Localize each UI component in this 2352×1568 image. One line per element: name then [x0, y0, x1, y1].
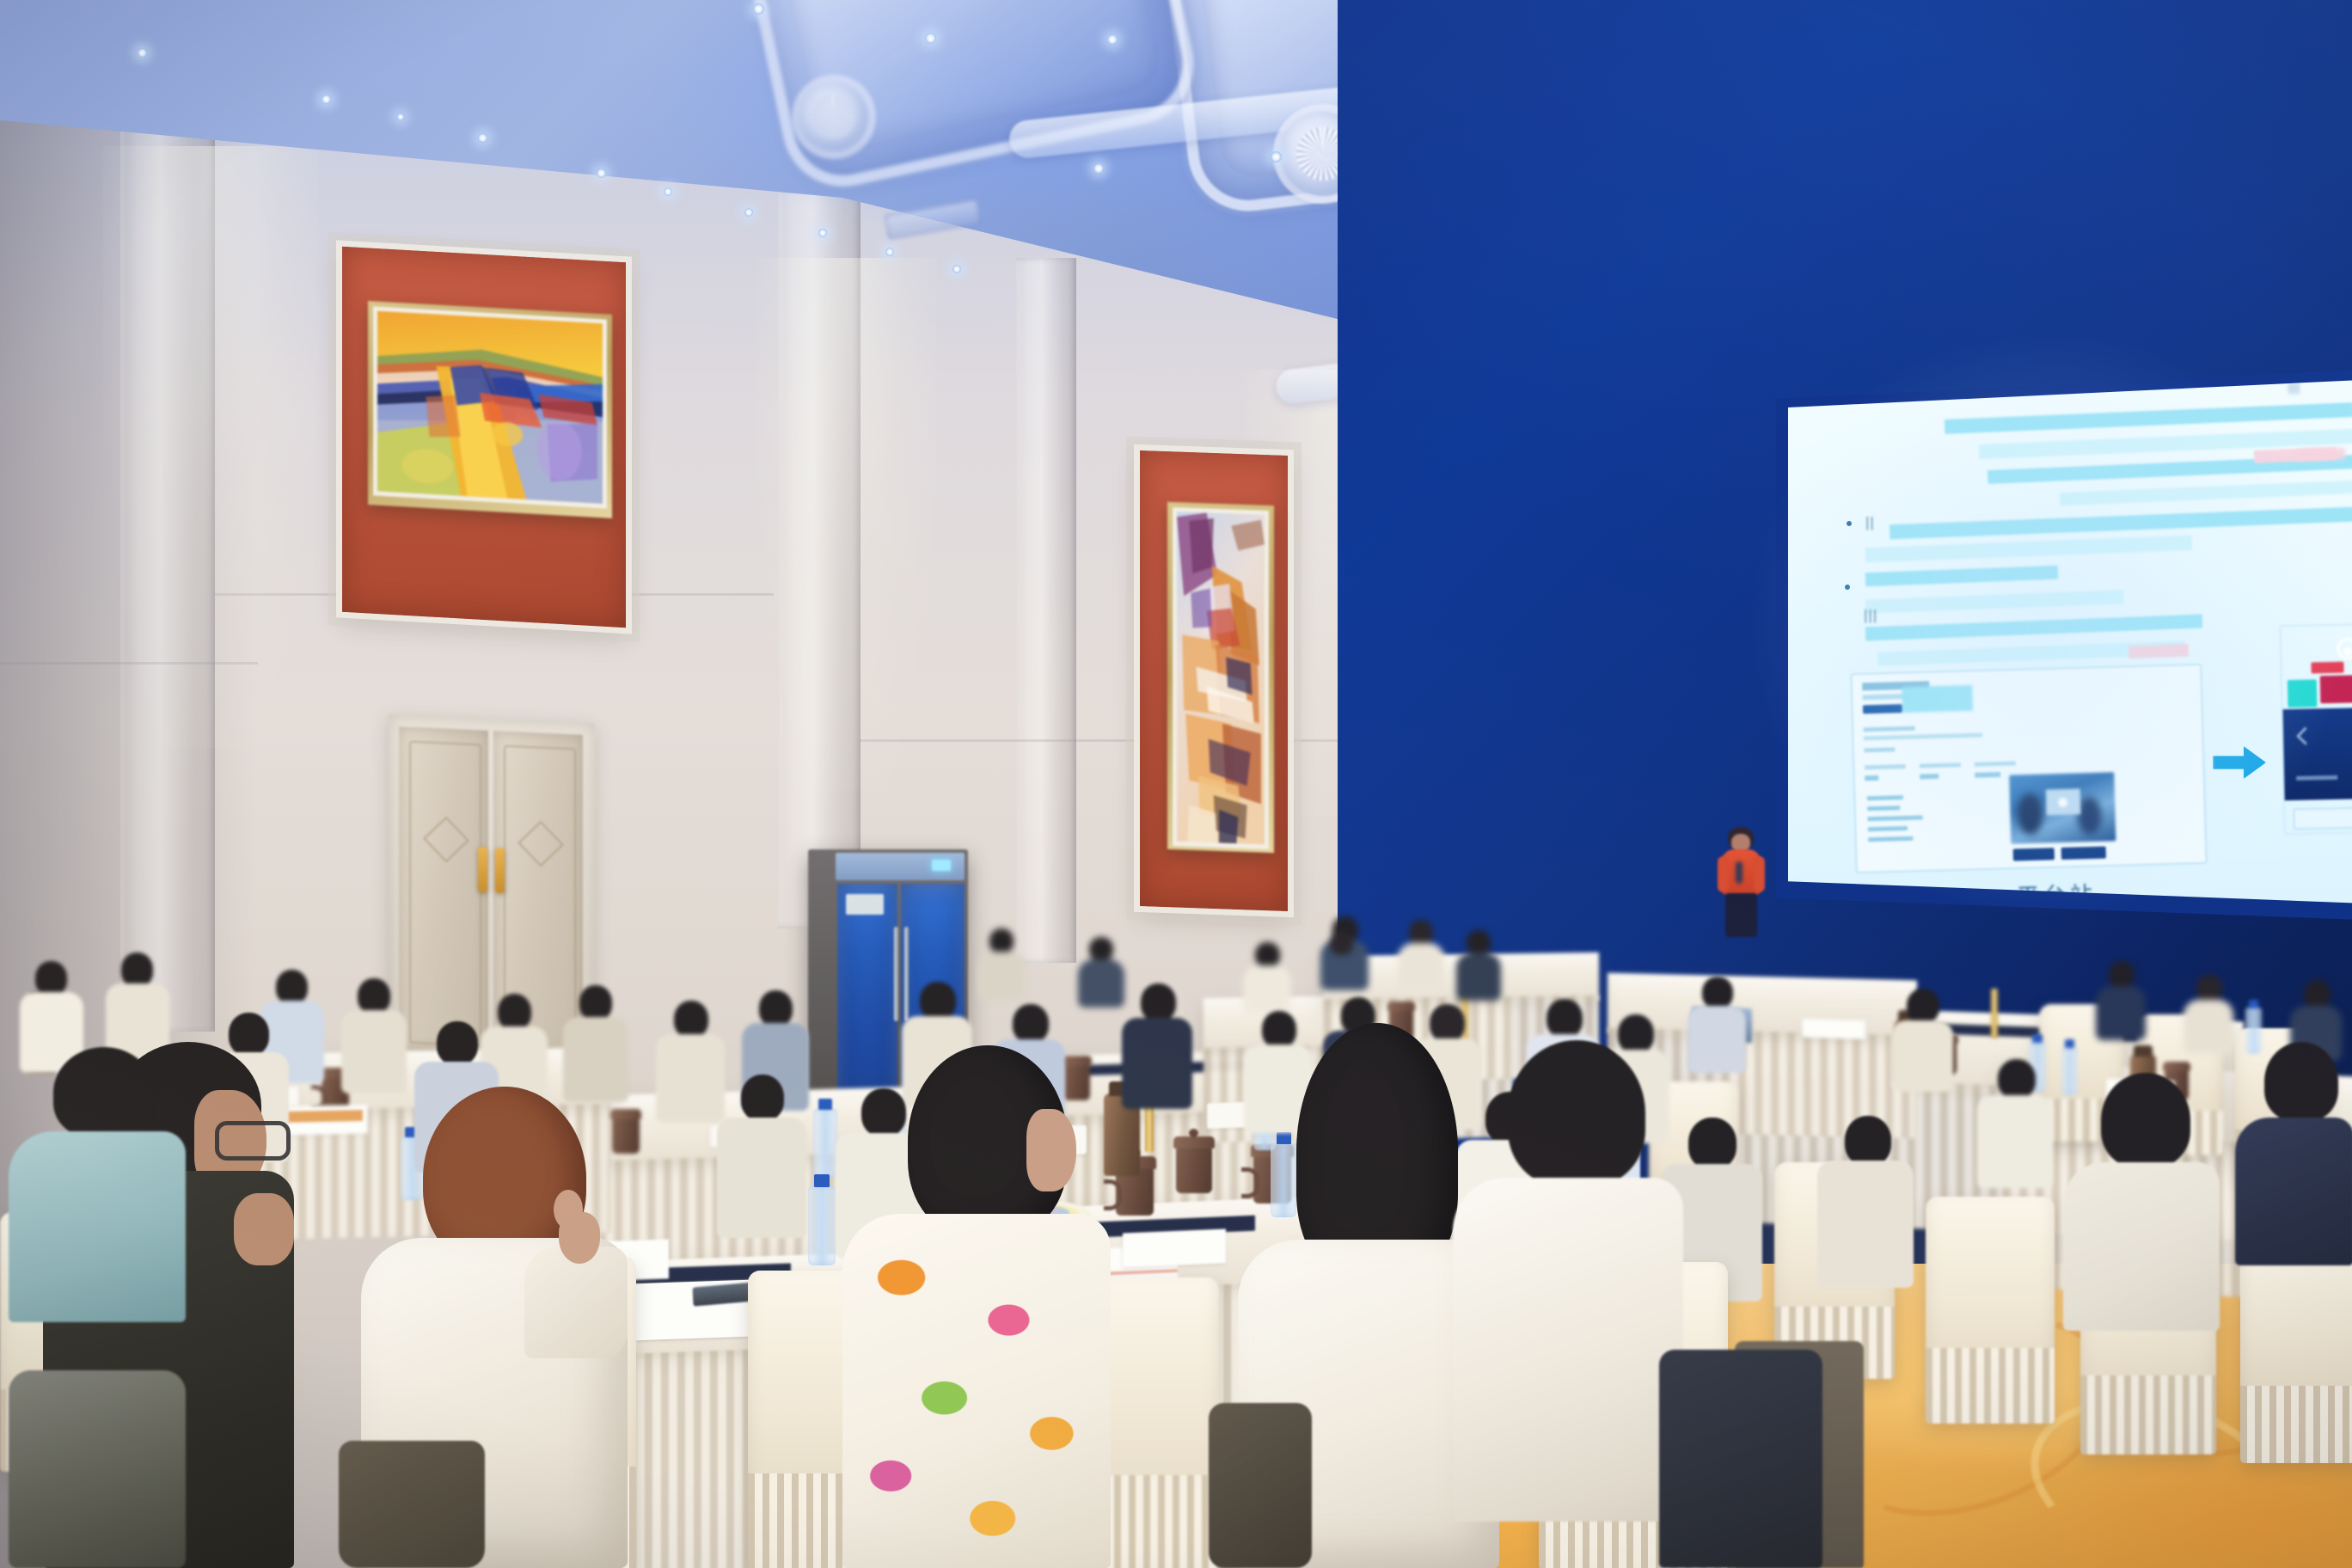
person-body: [1456, 952, 1501, 1001]
eyeglasses: [215, 1121, 291, 1161]
painting-figure: [1167, 502, 1274, 853]
person-head: [1013, 1004, 1049, 1043]
person-body: [2184, 1000, 2233, 1054]
ceiling-downlight: [1093, 163, 1104, 174]
phone-body: [2283, 707, 2352, 800]
audience-member: [1455, 930, 1503, 1001]
person-head: [1255, 942, 1280, 967]
person-bag: [1209, 1403, 1312, 1568]
person-head: [1907, 989, 1939, 1023]
ceiling-downlight: [753, 3, 764, 15]
person-head: [498, 994, 531, 1030]
phone-wifi-icon: [2337, 637, 2352, 660]
slide-card-stat-value: [1865, 775, 1878, 781]
wall-pilaster: [778, 189, 861, 928]
microphone: [1736, 861, 1743, 884]
slide-card-text: [1864, 732, 1982, 740]
slide-body-line: [1865, 536, 2192, 563]
person-head: [759, 990, 793, 1026]
slide-card-button: [2061, 847, 2106, 860]
person-head: [1141, 983, 1176, 1021]
phone-tag-red: [2311, 662, 2343, 674]
person-head: [741, 1075, 784, 1121]
audience-member-foreground: [9, 1047, 189, 1322]
slide-body-line: [1865, 590, 2123, 614]
slide-card-button: [2013, 848, 2055, 861]
slide-corner-redaction: [2297, 448, 2345, 461]
refrigerator-handle[interactable]: [894, 927, 898, 1021]
person-head: [358, 978, 390, 1014]
audience-member: [1396, 920, 1446, 992]
ceiling-downlight: [397, 113, 404, 120]
phone-list-text: [2296, 775, 2337, 781]
person-head: [2109, 961, 2135, 988]
refrigerator-label: [846, 894, 884, 915]
presentation-slide: || |||: [1776, 370, 2352, 920]
audience-member-foreground: [2063, 1073, 2223, 1331]
slide-card-text: [1864, 747, 1895, 752]
document-paper: [1123, 1228, 1226, 1267]
slide-heading-line: [2060, 481, 2352, 505]
person-head: [989, 928, 1014, 953]
person-body: [1453, 1178, 1683, 1522]
ceiling-downlight: [478, 133, 487, 143]
person-body: [1891, 1020, 1953, 1092]
ceiling-downlight: [597, 168, 606, 178]
wall-seam: [0, 662, 258, 665]
teacup-lid: [2163, 1062, 2190, 1071]
person-head: [1467, 930, 1491, 954]
painting-landscape: [368, 301, 612, 518]
painting-figure-canvas: [1177, 511, 1265, 844]
bottle-cap: [2249, 1000, 2258, 1008]
person-body: [9, 1131, 186, 1322]
painting-landscape-canvas: [377, 311, 603, 504]
person-body: [1078, 959, 1124, 1008]
person-body: [1817, 1161, 1914, 1288]
person-body: [842, 1214, 1111, 1568]
person-head: [437, 1021, 478, 1065]
person-head: [1089, 937, 1113, 961]
ceiling-downlight: [885, 248, 894, 256]
slide-card-stat: [1975, 761, 2016, 766]
slide-card-list-item: [1868, 826, 1908, 831]
person-hair: [1508, 1040, 1645, 1186]
ceiling-downlight: [138, 48, 147, 58]
person-body: [1977, 1095, 2053, 1188]
presenter-skirt: [1725, 893, 1757, 937]
ceiling-downlight: [1271, 151, 1282, 162]
person-head: [1409, 920, 1433, 945]
person-body: [978, 952, 1025, 1001]
presenter-arm: [1718, 856, 1729, 892]
chair-skirt: [2240, 1386, 2352, 1463]
person-body: [2235, 1118, 2352, 1265]
slide-card-stat: [1865, 764, 1906, 769]
chair-skirt: [2080, 1375, 2216, 1455]
person-hair: [53, 1047, 155, 1138]
presenter: [1709, 827, 1771, 937]
audience-member-foreground: [842, 1045, 1126, 1568]
person-hand: [559, 1212, 600, 1264]
banquet-chair: [1926, 1197, 2055, 1422]
person-head: [1702, 977, 1733, 1008]
audience-member: [1241, 942, 1293, 1014]
presenter-arm: [1754, 856, 1765, 892]
person-head: [920, 982, 956, 1020]
person-body: [2063, 1162, 2220, 1331]
slide-heading-line: [1945, 402, 2352, 434]
backpack: [9, 1370, 186, 1568]
bottle-cap: [814, 1174, 830, 1187]
refrigerator-display: [932, 860, 951, 871]
person-head: [1330, 932, 1353, 955]
person-head: [35, 961, 67, 995]
audience-member-foreground: [1453, 1040, 1694, 1522]
person-head: [276, 970, 308, 1004]
person-body: [1243, 965, 1291, 1014]
person-head: [1688, 1118, 1736, 1169]
person-head: [579, 985, 612, 1020]
teacup-lid: [1173, 1136, 1215, 1148]
ceiling-downlight: [952, 265, 961, 273]
wall-pilaster: [120, 86, 215, 1032]
person-body: [1398, 943, 1444, 992]
teacup-knob: [1189, 1129, 1198, 1137]
audience-member: [1319, 932, 1365, 999]
audience-member: [560, 985, 631, 1102]
slide-screenshot-card: [1851, 664, 2207, 873]
slide-card-list-item: [1868, 836, 1913, 842]
slide-body-line: [1890, 507, 2352, 540]
person-body: [717, 1118, 806, 1238]
person-body: [1687, 1006, 1746, 1073]
slide-section-label: |||: [1864, 607, 1877, 624]
slide-card-list-item: [1867, 815, 1922, 821]
slide-card-text: [1864, 726, 1915, 732]
slide-card-photo: [2009, 772, 2116, 843]
person-head: [2304, 980, 2331, 1008]
person-head: [1547, 999, 1583, 1038]
slide-caption-cjk: 平台站: [2017, 878, 2098, 912]
handbag: [339, 1441, 485, 1568]
slide-card-stat-value: [1975, 772, 2000, 778]
slide-card-badge: [1863, 704, 1902, 714]
ceiling-downlight: [1107, 34, 1118, 45]
audience-member: [1888, 989, 1957, 1092]
person-head: [1998, 1059, 2036, 1099]
document-paper: [1802, 1019, 1865, 1040]
slide-card-list-item: [1867, 805, 1900, 811]
projection-screen: || |||: [1776, 370, 2352, 920]
conference-hall-photo: EXIT: [0, 0, 2352, 1568]
ceiling-rosette: [799, 83, 868, 151]
audience-member: [1685, 977, 1749, 1073]
gold-table-stand: [1991, 989, 1998, 1038]
slide-card-stat-value: [1920, 774, 1939, 780]
slide-corner-glyph: |||: [2288, 380, 2300, 394]
slide-body-highlight: [2128, 644, 2190, 659]
slide-flow-arrow-icon: [2213, 746, 2266, 779]
bottle-cap: [818, 1099, 832, 1110]
slide-bullet-marker: [1845, 585, 1850, 590]
slide-card-stat: [1920, 763, 1961, 768]
audience-member-foreground: [2235, 1042, 2352, 1265]
slide-body-line: [1865, 566, 2058, 587]
door-handle[interactable]: [495, 848, 505, 892]
person-head: [2196, 975, 2222, 1001]
chair-skirt: [1926, 1348, 2055, 1424]
person-body: [1122, 1018, 1192, 1109]
ceiling-downlight: [322, 95, 331, 104]
slide-body-line: [1865, 614, 2202, 640]
audience-member: [339, 978, 409, 1093]
audience-member: [714, 1075, 810, 1238]
lidded-teacup: [1176, 1147, 1212, 1193]
phone-tag-cyan: [2288, 679, 2318, 707]
slide-bullet-marker: [1847, 521, 1852, 526]
wall-pilaster: [1016, 258, 1076, 963]
person-hair: [2264, 1042, 2338, 1121]
audience-member: [2182, 975, 2235, 1054]
person-body: [341, 1010, 407, 1093]
person-head: [1845, 1116, 1891, 1166]
person-body: [2096, 986, 2146, 1040]
jacket-on-chair: [1659, 1350, 1822, 1568]
person-hand: [234, 1193, 294, 1265]
audience-member: [1119, 983, 1195, 1109]
phone-banner: [2320, 675, 2352, 703]
slide-card-list-item: [1867, 795, 1903, 800]
door-handle[interactable]: [478, 847, 487, 891]
ceiling-downlight: [744, 208, 753, 217]
ceiling-downlight: [818, 229, 827, 237]
slide-bullet-text: ||: [1865, 514, 1875, 531]
audience-member: [1974, 1059, 2056, 1188]
person-head: [121, 952, 153, 987]
bottle-cap: [2032, 1034, 2043, 1043]
phone-footer: [2294, 807, 2352, 830]
door-panel-moulding: [409, 741, 481, 1047]
slide-card-redaction: [1902, 685, 1973, 713]
slide-phone-mockup: [2279, 623, 2352, 835]
audience-member: [1814, 1116, 1917, 1288]
audience-member: [977, 928, 1026, 1001]
ceiling-downlight: [925, 33, 936, 44]
person-head: [674, 1001, 708, 1038]
person-face: [1026, 1109, 1076, 1191]
audience-member: [2094, 961, 2147, 1040]
bottle-cap: [2065, 1039, 2074, 1048]
thermos-lid: [2134, 1045, 2153, 1057]
ceiling-downlight: [664, 187, 672, 196]
person-hair: [2101, 1073, 2190, 1167]
